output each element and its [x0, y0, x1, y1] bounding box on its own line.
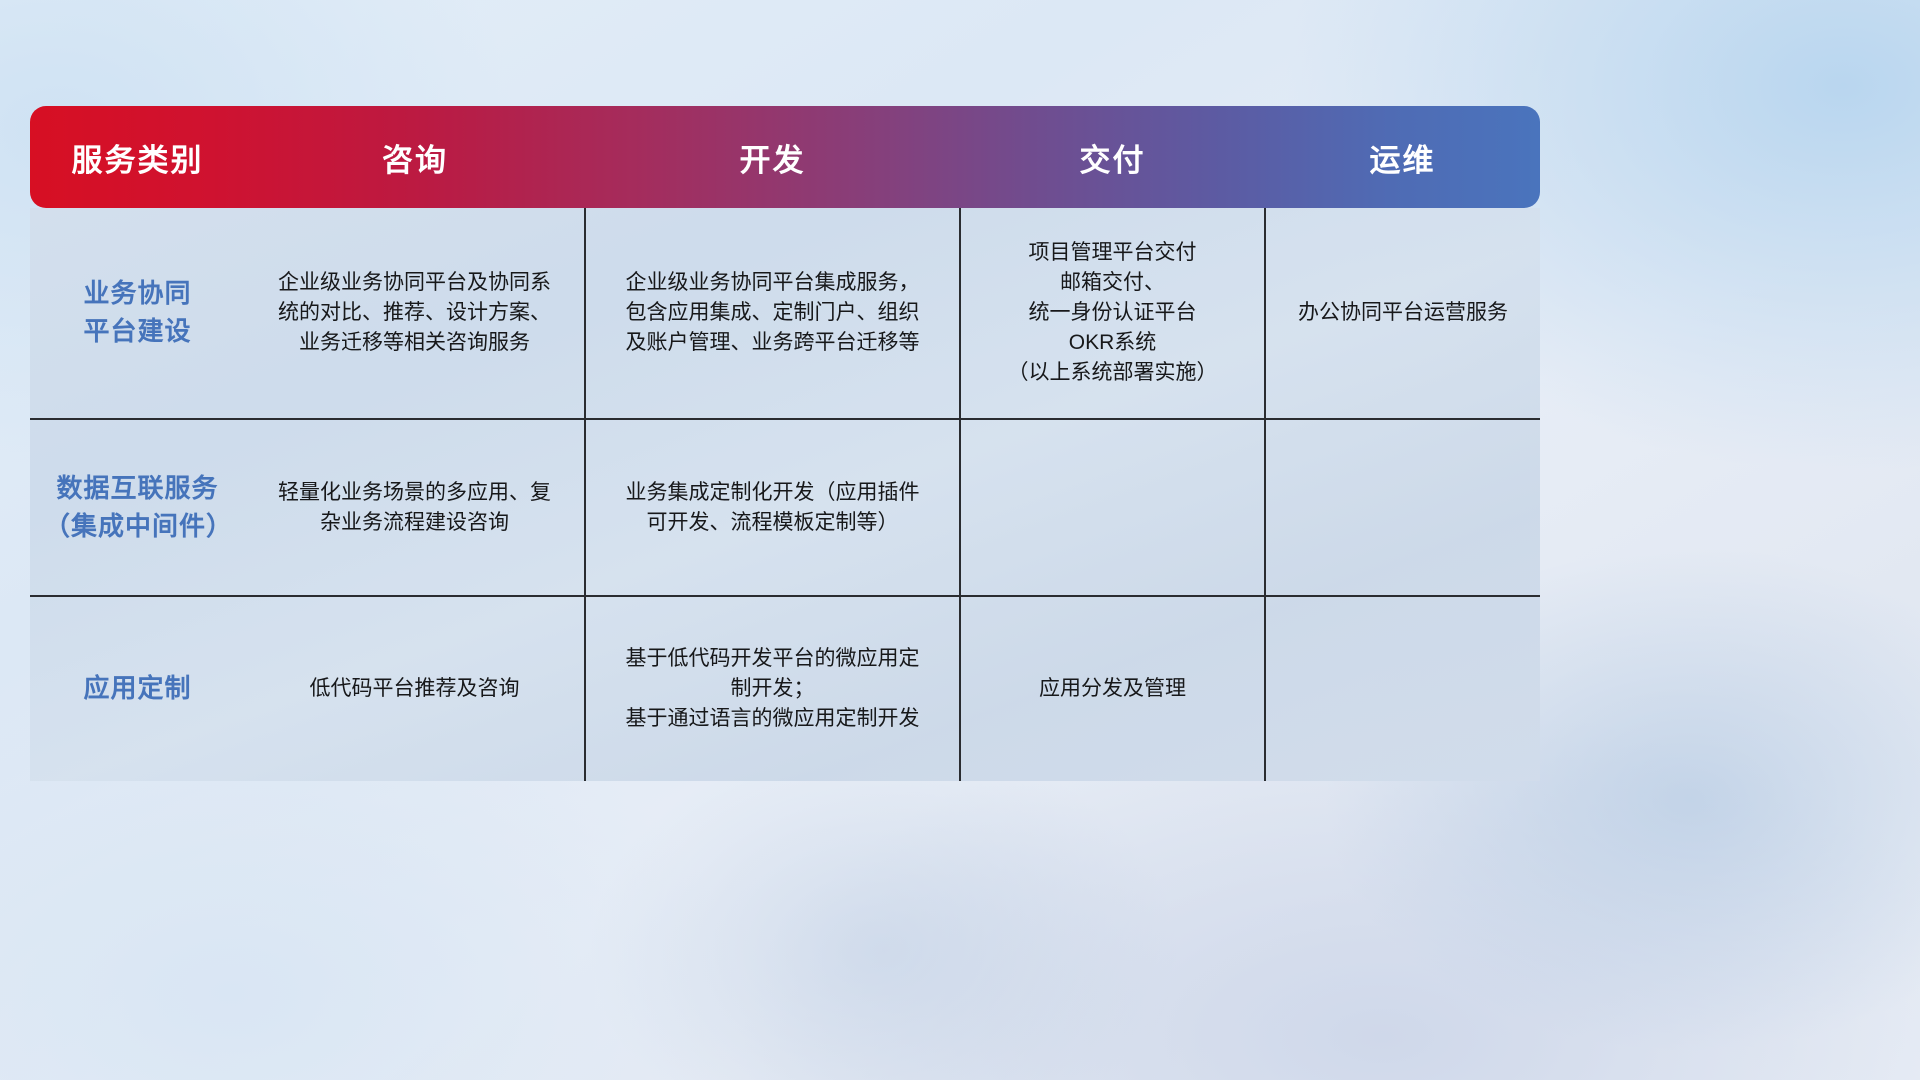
table: 服务类别 咨询 开发 交付 运维 业务协同 平台建设 企业级业务协同平台及协同系… — [30, 106, 1540, 781]
cell-delivery: 项目管理平台交付 邮箱交付、 统一身份认证平台 OKR系统 （以上系统部署实施） — [960, 208, 1265, 419]
table-row: 应用定制 低代码平台推荐及咨询 基于低代码开发平台的微应用定 制开发； 基于通过… — [30, 596, 1540, 781]
column-header-operations[interactable]: 运维 — [1265, 106, 1540, 208]
table-head: 服务类别 咨询 开发 交付 运维 — [30, 106, 1540, 208]
table-row: 数据互联服务 （集成中间件） 轻量化业务场景的多应用、复 杂业务流程建设咨询 业… — [30, 419, 1540, 596]
cell-development: 基于低代码开发平台的微应用定 制开发； 基于通过语言的微应用定制开发 — [585, 596, 960, 781]
table-body: 业务协同 平台建设 企业级业务协同平台及协同系 统的对比、推荐、设计方案、 业务… — [30, 208, 1540, 781]
cell-delivery — [960, 419, 1265, 596]
row-category-label: 应用定制 — [30, 596, 245, 781]
column-header-category[interactable]: 服务类别 — [30, 106, 245, 208]
cell-development: 企业级业务协同平台集成服务， 包含应用集成、定制门户、组织 及账户管理、业务跨平… — [585, 208, 960, 419]
service-category-table: 服务类别 咨询 开发 交付 运维 业务协同 平台建设 企业级业务协同平台及协同系… — [30, 106, 1540, 781]
header-row: 服务类别 咨询 开发 交付 运维 — [30, 106, 1540, 208]
cell-operations: 办公协同平台运营服务 — [1265, 208, 1540, 419]
column-header-development[interactable]: 开发 — [585, 106, 960, 208]
cell-development: 业务集成定制化开发（应用插件 可开发、流程模板定制等） — [585, 419, 960, 596]
row-category-label: 业务协同 平台建设 — [30, 208, 245, 419]
cell-delivery: 应用分发及管理 — [960, 596, 1265, 781]
cell-consulting: 低代码平台推荐及咨询 — [245, 596, 585, 781]
row-category-label: 数据互联服务 （集成中间件） — [30, 419, 245, 596]
cell-operations — [1265, 419, 1540, 596]
cell-consulting: 轻量化业务场景的多应用、复 杂业务流程建设咨询 — [245, 419, 585, 596]
cell-operations — [1265, 596, 1540, 781]
table-row: 业务协同 平台建设 企业级业务协同平台及协同系 统的对比、推荐、设计方案、 业务… — [30, 208, 1540, 419]
column-header-delivery[interactable]: 交付 — [960, 106, 1265, 208]
cell-consulting: 企业级业务协同平台及协同系 统的对比、推荐、设计方案、 业务迁移等相关咨询服务 — [245, 208, 585, 419]
column-header-consulting[interactable]: 咨询 — [245, 106, 585, 208]
